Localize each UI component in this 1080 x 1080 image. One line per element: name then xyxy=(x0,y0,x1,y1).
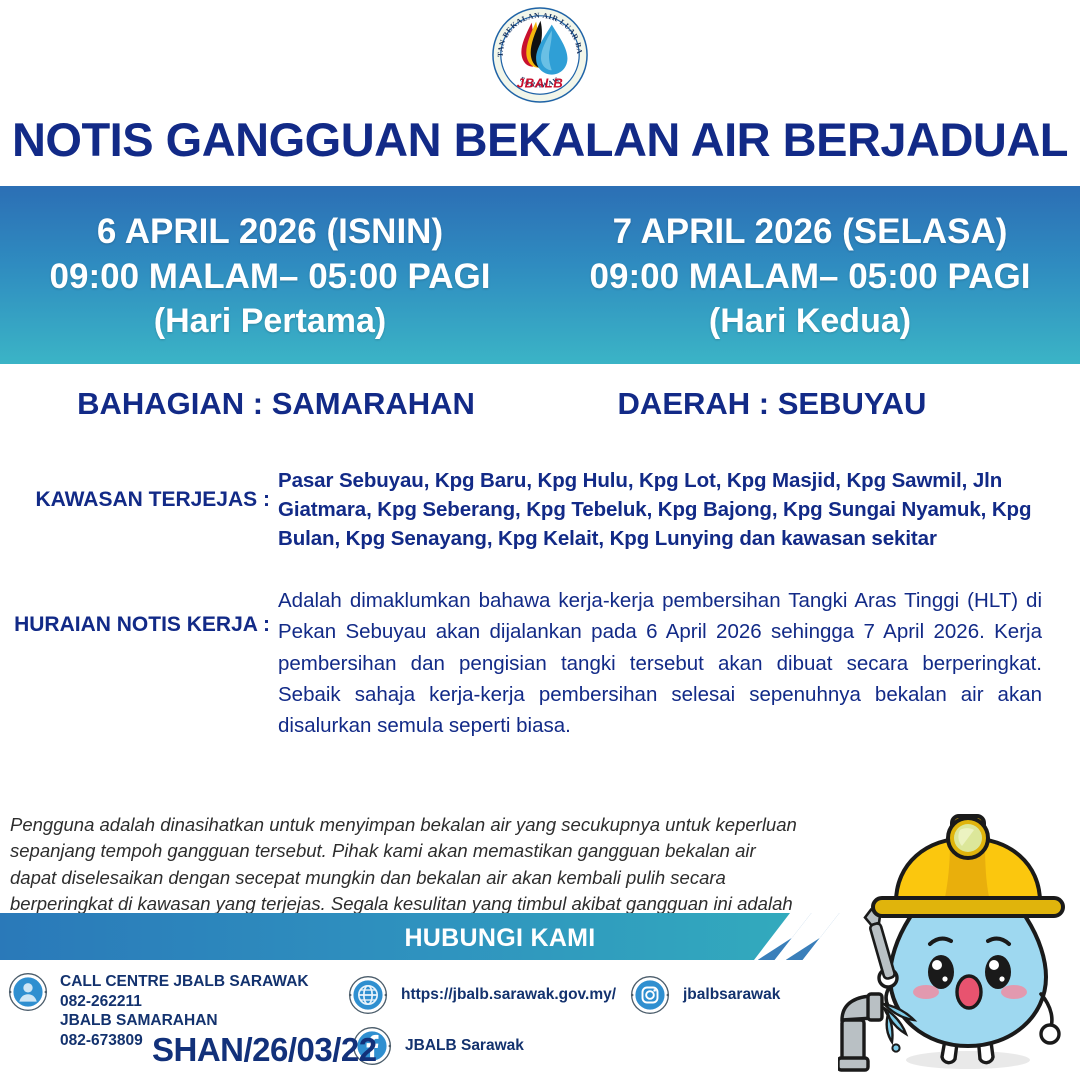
work-description-label: HURAIAN NOTIS KERJA : xyxy=(0,585,278,741)
branch-name: JBALB SAMARAHAN xyxy=(60,1011,309,1031)
call-centre-name: CALL CENTRE JBALB SARAWAK xyxy=(60,972,309,992)
schedule-day-label: (Hari Kedua) xyxy=(709,299,911,343)
schedule-day-1: 6 APRIL 2026 (ISNIN) 09:00 MALAM– 05:00 … xyxy=(0,186,540,364)
bahagian-label: BAHAGIAN : SAMARAHAN xyxy=(0,386,540,422)
schedule-day-label: (Hari Pertama) xyxy=(154,299,386,343)
work-description-row: HURAIAN NOTIS KERJA : Adalah dimaklumkan… xyxy=(0,585,1080,741)
page-title: NOTIS GANGGUAN BEKALAN AIR BERJADUAL xyxy=(0,110,1080,163)
instagram-icon xyxy=(630,975,670,1015)
affected-areas-row: KAWASAN TERJEJAS : Pasar Sebuyau, Kpg Ba… xyxy=(0,466,1080,553)
affected-areas-value: Pasar Sebuyau, Kpg Baru, Kpg Hulu, Kpg L… xyxy=(278,466,1080,553)
instagram-handle[interactable]: jbalbsarawak xyxy=(683,986,780,1004)
website-url[interactable]: https://jbalb.sarawak.gov.my/ xyxy=(401,986,616,1004)
contact-heading: HUBUNGI KAMI xyxy=(300,924,700,953)
facebook-handle[interactable]: JBALB Sarawak xyxy=(405,1037,524,1055)
reference-number: SHAN/26/03/22 xyxy=(152,1031,377,1069)
affected-areas-label: KAWASAN TERJEJAS : xyxy=(0,466,278,553)
schedule-banner: 6 APRIL 2026 (ISNIN) 09:00 MALAM– 05:00 … xyxy=(0,186,1080,364)
svg-text:JBALB: JBALB xyxy=(517,75,564,90)
schedule-day-2: 7 APRIL 2026 (SELASA) 09:00 MALAM– 05:00… xyxy=(540,186,1080,364)
daerah-label: DAERAH : SEBUYAU xyxy=(540,386,1080,422)
person-icon xyxy=(8,972,48,1012)
schedule-date: 7 APRIL 2026 (SELASA) xyxy=(613,210,1008,254)
work-description-value: Adalah dimaklumkan bahawa kerja-kerja pe… xyxy=(278,585,1080,741)
facebook-block[interactable]: JBALB Sarawak xyxy=(352,1026,524,1066)
banner-stripe-2 xyxy=(786,913,840,960)
globe-icon xyxy=(348,975,388,1015)
schedule-time: 09:00 MALAM– 05:00 PAGI xyxy=(50,255,491,299)
jbalb-logo-icon: JABATAN BEKALAN AIR LUAR BANDAR SARAWAK … xyxy=(491,6,589,104)
schedule-date: 6 APRIL 2026 (ISNIN) xyxy=(97,210,443,254)
division-row: BAHAGIAN : SAMARAHAN DAERAH : SEBUYAU xyxy=(0,386,1080,422)
call-centre-phone: 082-262211 xyxy=(60,992,309,1012)
water-droplet-mascot-icon xyxy=(838,802,1080,1080)
logo-area: JABATAN BEKALAN AIR LUAR BANDAR SARAWAK … xyxy=(0,0,1080,110)
website-block[interactable]: https://jbalb.sarawak.gov.my/ xyxy=(348,975,616,1015)
schedule-time: 09:00 MALAM– 05:00 PAGI xyxy=(590,255,1031,299)
instagram-block[interactable]: jbalbsarawak xyxy=(630,975,780,1015)
